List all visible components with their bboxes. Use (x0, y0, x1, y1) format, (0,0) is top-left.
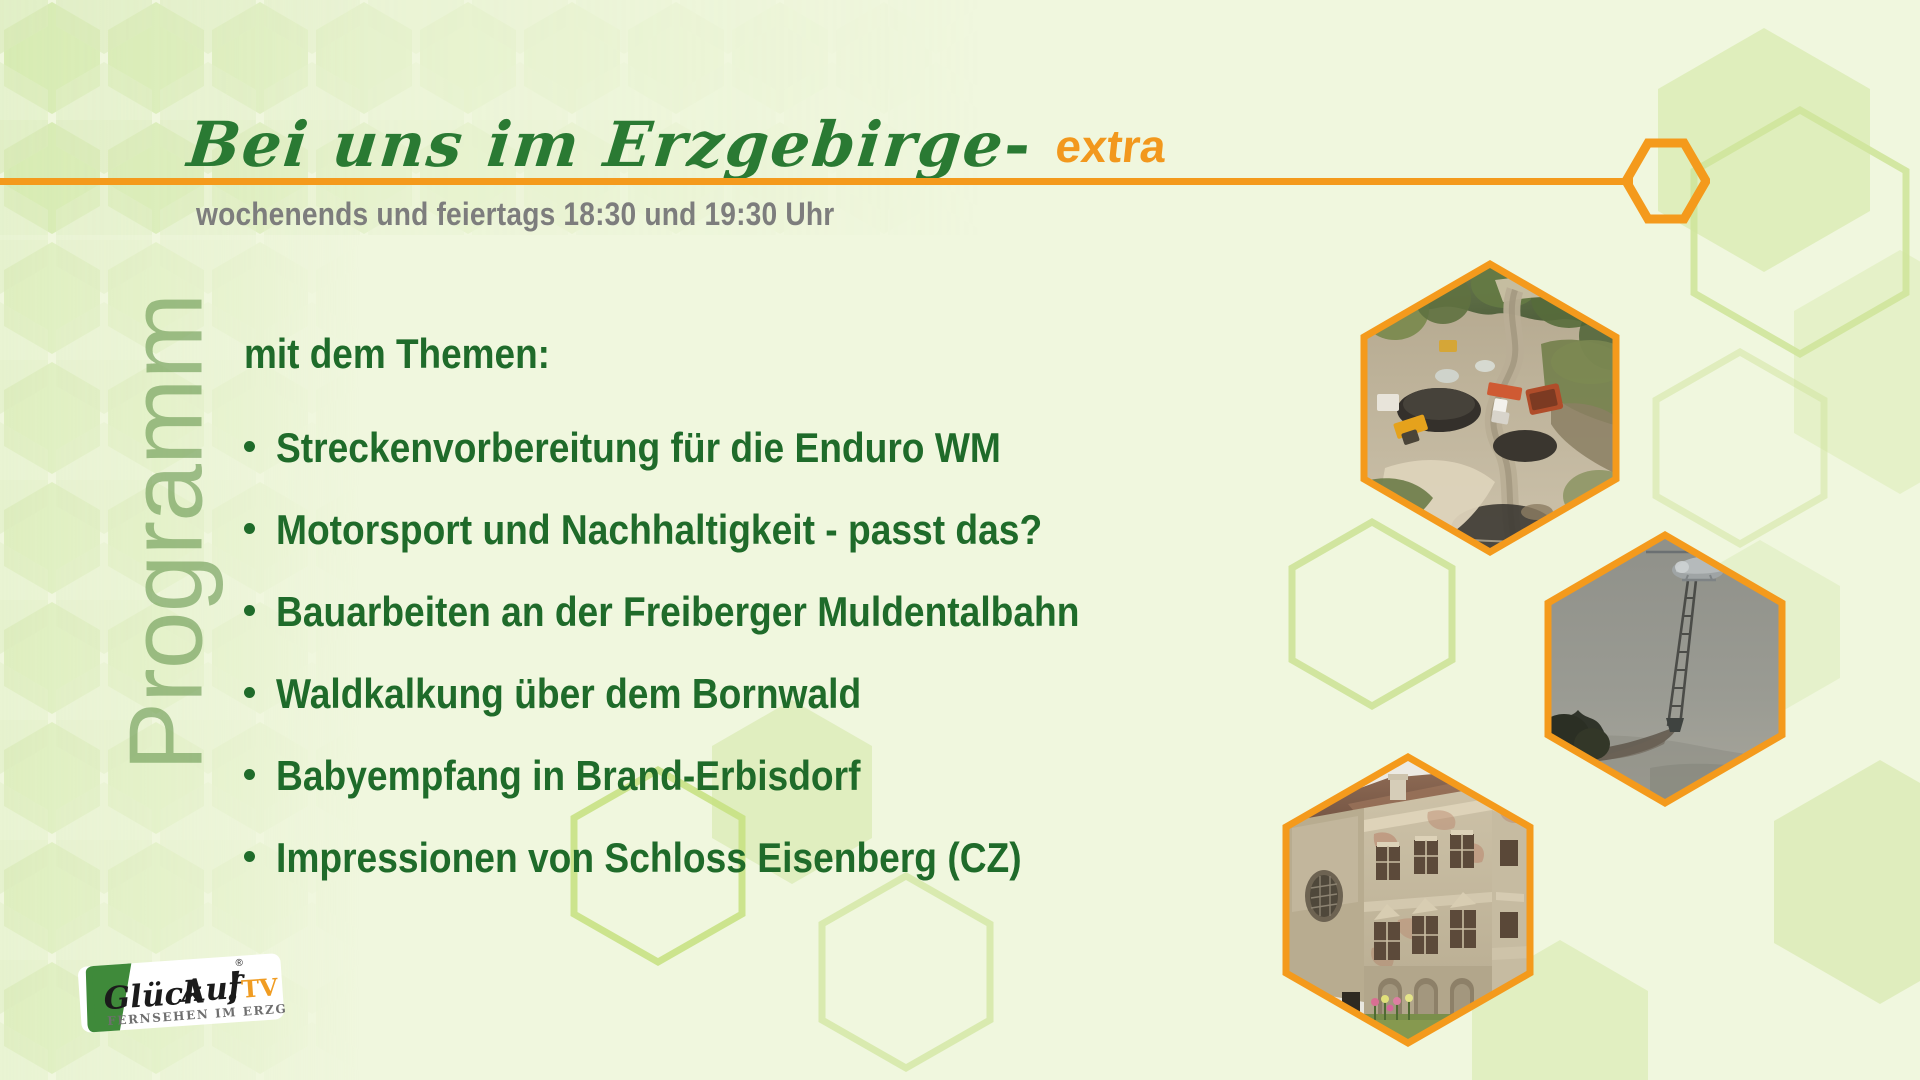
glueckauf-tv-logo[interactable]: Glück Auf ! ® TV FERNSEHEN IM ERZGEBIRGE (78, 952, 285, 1049)
broadcast-time-subtitle: wochenends und feiertags 18:30 und 19:30… (196, 196, 834, 233)
bullet-dot-icon (244, 441, 255, 452)
title-main-text: Bei uns im Erzgebirge (184, 108, 1008, 181)
list-item: Impressionen von Schloss Eisenberg (CZ) (244, 834, 1184, 916)
bullet-dot-icon (244, 523, 255, 534)
logo-tv-text: TV (240, 972, 279, 1004)
list-item: Waldkalkung über dem Bornwald (244, 670, 1184, 752)
topics-intro-label: mit dem Themen: (244, 330, 550, 378)
list-item-label: Impressionen von Schloss Eisenberg (CZ) (276, 834, 1022, 882)
list-item-label: Bauarbeiten an der Freiberger Muldentalb… (276, 588, 1079, 636)
title-underline-rule (0, 178, 1633, 185)
list-item-label: Babyempfang in Brand-Erbisdorf (276, 752, 860, 800)
list-item: Streckenvorbereitung für die Enduro WM (244, 424, 1184, 506)
page-title: Bei uns im Erzgebirge- extra (184, 108, 1170, 181)
helicopter-liming-hexagon-photo (1540, 530, 1790, 808)
bullet-dot-icon (244, 687, 255, 698)
topics-list: Streckenvorbereitung für die Enduro WM M… (244, 424, 1184, 916)
list-item-label: Waldkalkung über dem Bornwald (276, 670, 861, 718)
orange-hexagon-endcap-icon (1622, 137, 1710, 225)
bullet-dot-icon (244, 851, 255, 862)
list-item-label: Streckenvorbereitung für die Enduro WM (276, 424, 1001, 472)
logo-registered-mark: ® (235, 958, 244, 970)
title-extra-text: extra (1053, 119, 1169, 173)
list-item-label: Motorsport und Nachhaltigkeit - passt da… (276, 506, 1042, 554)
list-item: Bauarbeiten an der Freiberger Muldentalb… (244, 588, 1184, 670)
list-item: Babyempfang in Brand-Erbisdorf (244, 752, 1184, 834)
bullet-dot-icon (244, 769, 255, 780)
bullet-dot-icon (244, 605, 255, 616)
castle-eisenberg-hexagon-photo (1278, 752, 1538, 1048)
slide-canvas: Bei uns im Erzgebirge- extra wochenends … (0, 0, 1920, 1080)
quarry-aerial-hexagon-photo (1355, 258, 1625, 558)
list-item: Motorsport und Nachhaltigkeit - passt da… (244, 506, 1184, 588)
